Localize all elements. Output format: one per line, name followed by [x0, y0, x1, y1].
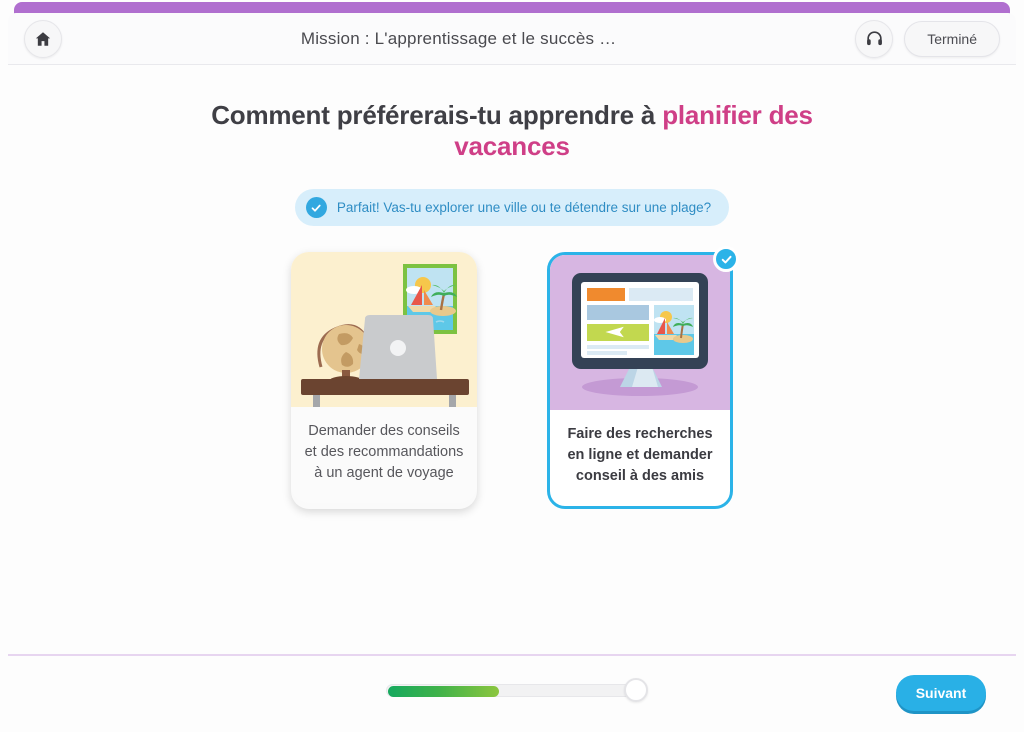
- page-title: Mission : L'apprentissage et le succès …: [62, 29, 855, 49]
- home-icon: [34, 30, 52, 48]
- audio-button[interactable]: [855, 20, 893, 58]
- option-card-inner: Faire des recherches en ligne et demande…: [547, 252, 733, 509]
- check-glyph-icon: [310, 202, 322, 214]
- hint-text: Parfait! Vas-tu explorer une ville ou te…: [337, 200, 711, 215]
- progress-fill: [388, 686, 499, 697]
- hint-banner: Parfait! Vas-tu explorer une ville ou te…: [295, 189, 729, 226]
- option-label: Demander des conseils et des recommandat…: [291, 407, 477, 503]
- desk-globe-laptop-illustration: [291, 252, 477, 407]
- check-circle-icon: [306, 197, 327, 218]
- progress-knob[interactable]: [624, 678, 648, 702]
- question-prefix: Comment préférerais-tu apprendre à: [211, 100, 662, 130]
- headphones-icon: [865, 29, 884, 48]
- monitor-website-illustration: [550, 255, 730, 410]
- option-label: Faire des recherches en ligne et demande…: [550, 410, 730, 506]
- app-header: Mission : L'apprentissage et le succès ……: [8, 13, 1016, 65]
- lesson-screen: Mission : L'apprentissage et le succès ……: [0, 0, 1024, 732]
- option-card-online-research[interactable]: Faire des recherches en ligne et demande…: [547, 252, 733, 509]
- desk-scene-icon: [291, 252, 477, 407]
- next-button[interactable]: Suivant: [896, 675, 986, 711]
- check-badge-icon: [713, 246, 739, 272]
- option-card-inner: Demander des conseils et des recommandat…: [291, 252, 477, 503]
- hint-banner-wrap: Parfait! Vas-tu explorer une ville ou te…: [8, 189, 1016, 226]
- footer-bar: Suivant: [8, 656, 1016, 724]
- progress-slider[interactable]: [386, 680, 638, 700]
- desktop-monitor-icon: [550, 255, 730, 404]
- badge-check-glyph-icon: [720, 253, 733, 266]
- option-card-travel-agent[interactable]: Demander des conseils et des recommandat…: [291, 252, 477, 509]
- header-actions: Terminé: [855, 20, 1000, 58]
- answer-options: Demander des conseils et des recommandat…: [8, 252, 1016, 509]
- home-button[interactable]: [24, 20, 62, 58]
- lesson-content: Comment préférerais-tu apprendre à plani…: [8, 66, 1016, 654]
- progress-track: [386, 684, 638, 697]
- question-heading: Comment préférerais-tu apprendre à plani…: [172, 100, 852, 161]
- done-button[interactable]: Terminé: [904, 21, 1000, 57]
